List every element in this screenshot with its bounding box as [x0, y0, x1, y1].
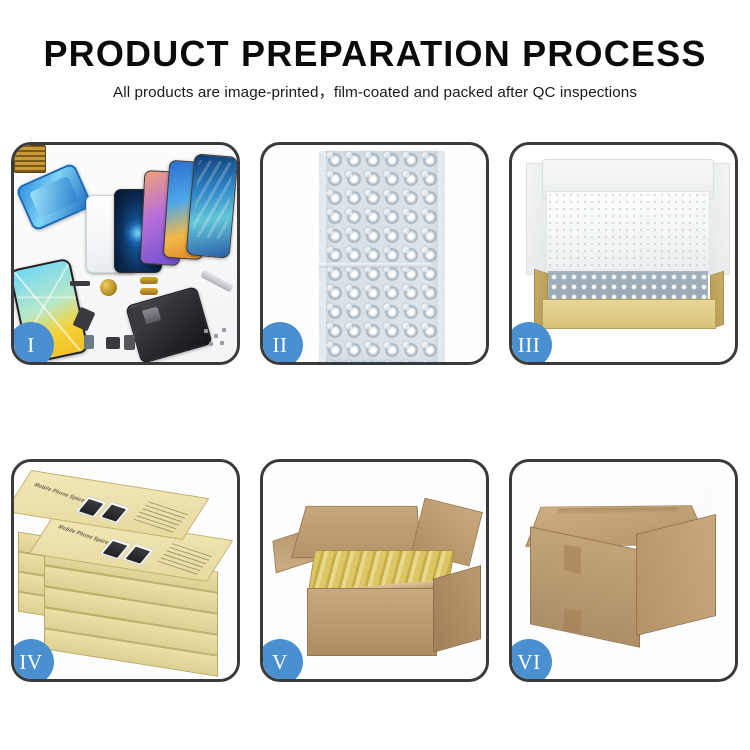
inner-box-front-panel: [542, 299, 716, 329]
step-panel-3: III: [509, 142, 738, 365]
step-3-image: III: [512, 145, 735, 362]
battery-connector-part: [84, 335, 94, 349]
sealed-carton-tape-upper: [564, 544, 581, 574]
speaker-part: [106, 337, 120, 349]
sealed-carton-tape-lower: [564, 608, 581, 634]
vibrator-part: [124, 335, 135, 350]
carton-side-panel: [433, 565, 481, 653]
sealed-carton-side-panel: [636, 514, 716, 636]
screws-part: [202, 327, 230, 349]
bubble-wrap-sheet: [319, 151, 445, 362]
flex-cable-part-1: [140, 277, 158, 284]
step-panel-5: V: [260, 459, 489, 682]
step-badge-2: II: [263, 322, 303, 362]
carton-front-panel: [307, 588, 437, 656]
process-steps-grid: I II III: [11, 142, 739, 682]
foam-sheet: [546, 191, 710, 275]
retail-box-spec-lines: [133, 499, 190, 533]
lcd-display-4: [186, 153, 237, 258]
step-badge-6: VI: [512, 639, 552, 679]
step-6-image: VI: [512, 462, 735, 679]
page-title: PRODUCT PREPARATION PROCESS: [0, 34, 750, 74]
chip-grid-part: [14, 145, 46, 173]
step-2-image: II: [263, 145, 486, 362]
step-panel-4: Mobile Phone Spare Parts Mobile Phone Sp…: [11, 459, 240, 682]
page-subtitle: All products are image-printed，film-coat…: [0, 83, 750, 103]
step-panel-1: I: [11, 142, 240, 365]
step-panel-2: II: [260, 142, 489, 365]
step-1-image: I: [14, 145, 237, 362]
retail-box-spec-lines: [157, 541, 214, 575]
earpiece-part: [70, 281, 90, 286]
step-badge-5: V: [263, 639, 303, 679]
tweezers-tool: [200, 269, 234, 292]
step-panel-6: VI: [509, 459, 738, 682]
page-header: PRODUCT PREPARATION PROCESS All products…: [0, 0, 750, 103]
flex-cable-part-2: [140, 288, 158, 295]
bubble-wrap-seam: [319, 263, 431, 268]
camera-module-part: [100, 279, 117, 296]
step-4-image: Mobile Phone Spare Parts Mobile Phone Sp…: [14, 462, 237, 679]
step-5-image: V: [263, 462, 486, 679]
